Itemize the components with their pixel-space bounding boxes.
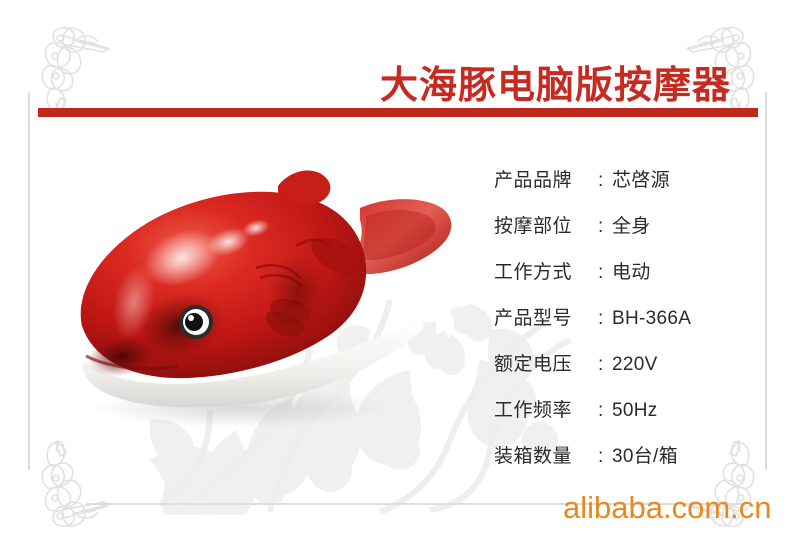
product-spec-list: 产品品牌:芯啓源 按摩部位:全身 工作方式:电动 产品型号:BH-366A 额定… — [494, 158, 754, 480]
title-accent-bar — [38, 108, 758, 117]
spec-label-working-mode: 工作方式 — [494, 250, 598, 296]
spec-row-carton-quantity: 装箱数量:30台/箱 — [494, 434, 754, 480]
frame-border-left — [28, 92, 30, 470]
product-advertisement-page: 大海豚电脑版按摩器 — [0, 0, 796, 545]
spec-value-massage-area: 全身 — [612, 204, 651, 250]
spec-label-carton-quantity: 装箱数量 — [494, 434, 598, 480]
spec-row-massage-area: 按摩部位:全身 — [494, 204, 754, 250]
spec-colon-carton-quantity: : — [598, 434, 612, 480]
spec-row-voltage: 额定电压:220V — [494, 342, 754, 388]
spec-colon-massage-area: : — [598, 204, 612, 250]
spec-label-voltage: 额定电压 — [494, 342, 598, 388]
corner-ornament-bottom-left — [26, 440, 112, 532]
spec-value-working-mode: 电动 — [612, 250, 651, 296]
spec-value-voltage: 220V — [612, 342, 658, 388]
spec-label-model: 产品型号 — [494, 296, 598, 342]
spec-colon-model: : — [598, 296, 612, 342]
spec-row-frequency: 工作频率:50Hz — [494, 388, 754, 434]
spec-value-carton-quantity: 30台/箱 — [612, 434, 678, 480]
spec-row-brand: 产品品牌:芯啓源 — [494, 158, 754, 204]
spec-colon-working-mode: : — [598, 250, 612, 296]
spec-value-model: BH-366A — [612, 296, 691, 342]
page-title: 大海豚电脑版按摩器 — [380, 54, 731, 109]
spec-label-massage-area: 按摩部位 — [494, 204, 598, 250]
spec-colon-brand: : — [598, 158, 612, 204]
frame-border-right — [765, 92, 767, 470]
spec-label-frequency: 工作频率 — [494, 388, 598, 434]
spec-row-model: 产品型号:BH-366A — [494, 296, 754, 342]
spec-colon-frequency: : — [598, 388, 612, 434]
spec-value-frequency: 50Hz — [612, 388, 658, 434]
spec-colon-voltage: : — [598, 342, 612, 388]
alibaba-watermark: alibaba.com.cn — [563, 490, 772, 526]
product-eye — [179, 305, 213, 339]
product-image-dolphin-massager — [60, 150, 480, 440]
spec-value-brand: 芯啓源 — [612, 158, 670, 204]
spec-label-brand: 产品品牌 — [494, 158, 598, 204]
spec-row-working-mode: 工作方式:电动 — [494, 250, 754, 296]
corner-ornament-top-left — [26, 22, 112, 114]
